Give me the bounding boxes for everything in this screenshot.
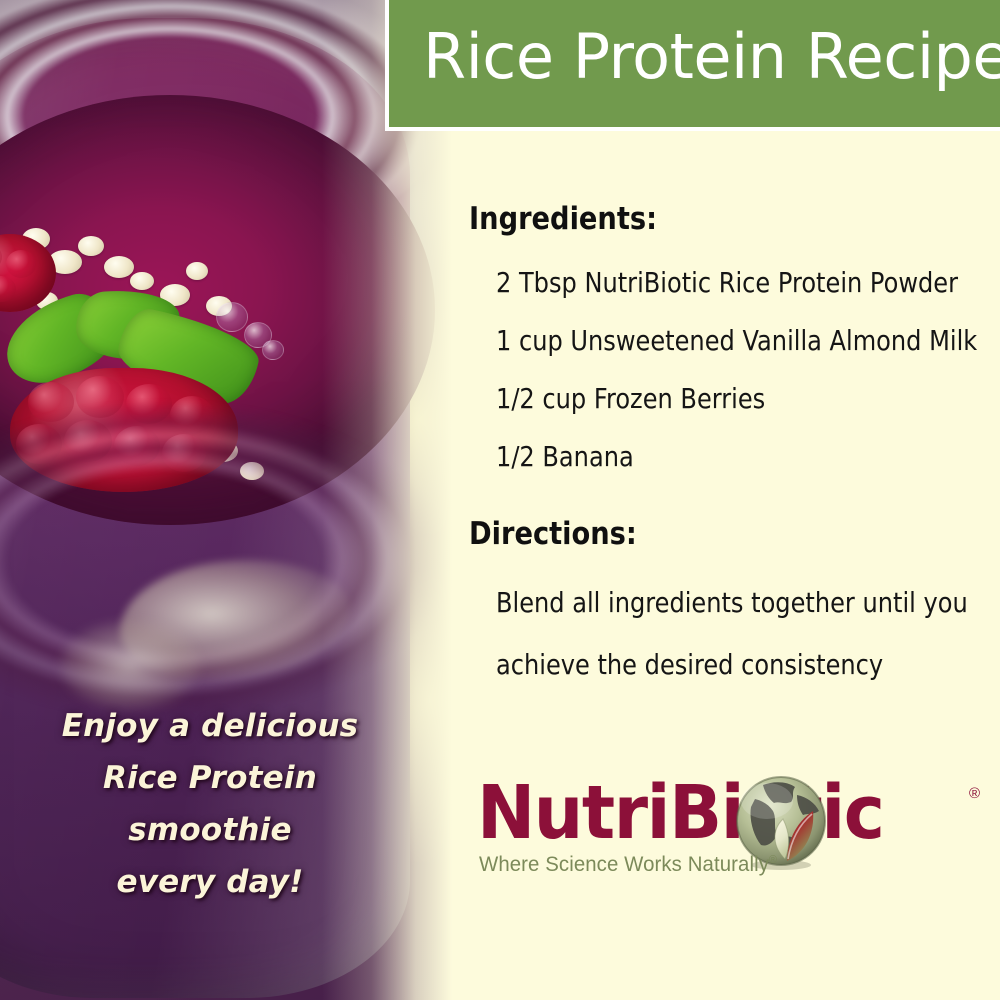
smoothie-photo: Enjoy a delicious Rice Protein smoothie …	[0, 0, 452, 1000]
logo-tagline-text: Where Science Works Naturally	[479, 853, 769, 876]
granola-crumb	[186, 262, 208, 280]
directions-heading: Directions:	[469, 516, 637, 552]
ingredient-item: 1/2 cup Frozen Berries	[496, 382, 765, 415]
direction-line: Blend all ingredients together until you	[496, 586, 968, 619]
photo-caption: Enjoy a delicious Rice Protein smoothie …	[0, 700, 420, 908]
ingredient-item: 2 Tbsp NutriBiotic Rice Protein Powder	[496, 266, 958, 299]
smoothie-splash-highlight	[60, 620, 200, 710]
granola-crumb	[78, 236, 104, 256]
berry-bubble	[216, 302, 248, 332]
direction-line: achieve the desired consistency	[496, 648, 883, 681]
caption-line: every day!	[0, 856, 420, 908]
logo-tagline-mark: ®	[769, 854, 777, 866]
ingredient-item: 1 cup Unsweetened Vanilla Almond Milk	[496, 324, 977, 357]
recipe-poster: Enjoy a delicious Rice Protein smoothie …	[0, 0, 1000, 1000]
header-band: Rice Protein Recipe	[385, 0, 1000, 131]
granola-crumb	[130, 272, 154, 290]
caption-line: Enjoy a delicious	[0, 700, 420, 752]
ingredients-heading: Ingredients:	[469, 201, 657, 237]
ingredient-item: 1/2 Banana	[496, 440, 634, 473]
granola-crumb	[104, 256, 134, 278]
caption-line: smoothie	[0, 804, 420, 856]
nutribiotic-logo: NutriBiotic	[477, 771, 982, 891]
recipe-panel: Ingredients: 2 Tbsp NutriBiotic Rice Pro…	[452, 131, 1000, 1000]
logo-registered-mark: ®	[969, 785, 980, 802]
logo-tagline: Where Science Works Naturally®	[479, 853, 777, 877]
berry-bubble	[262, 340, 284, 360]
logo-wordmark-part1: NutriBi	[477, 770, 743, 856]
caption-line: Rice Protein	[0, 752, 420, 804]
page-title: Rice Protein Recipe	[423, 17, 1000, 97]
